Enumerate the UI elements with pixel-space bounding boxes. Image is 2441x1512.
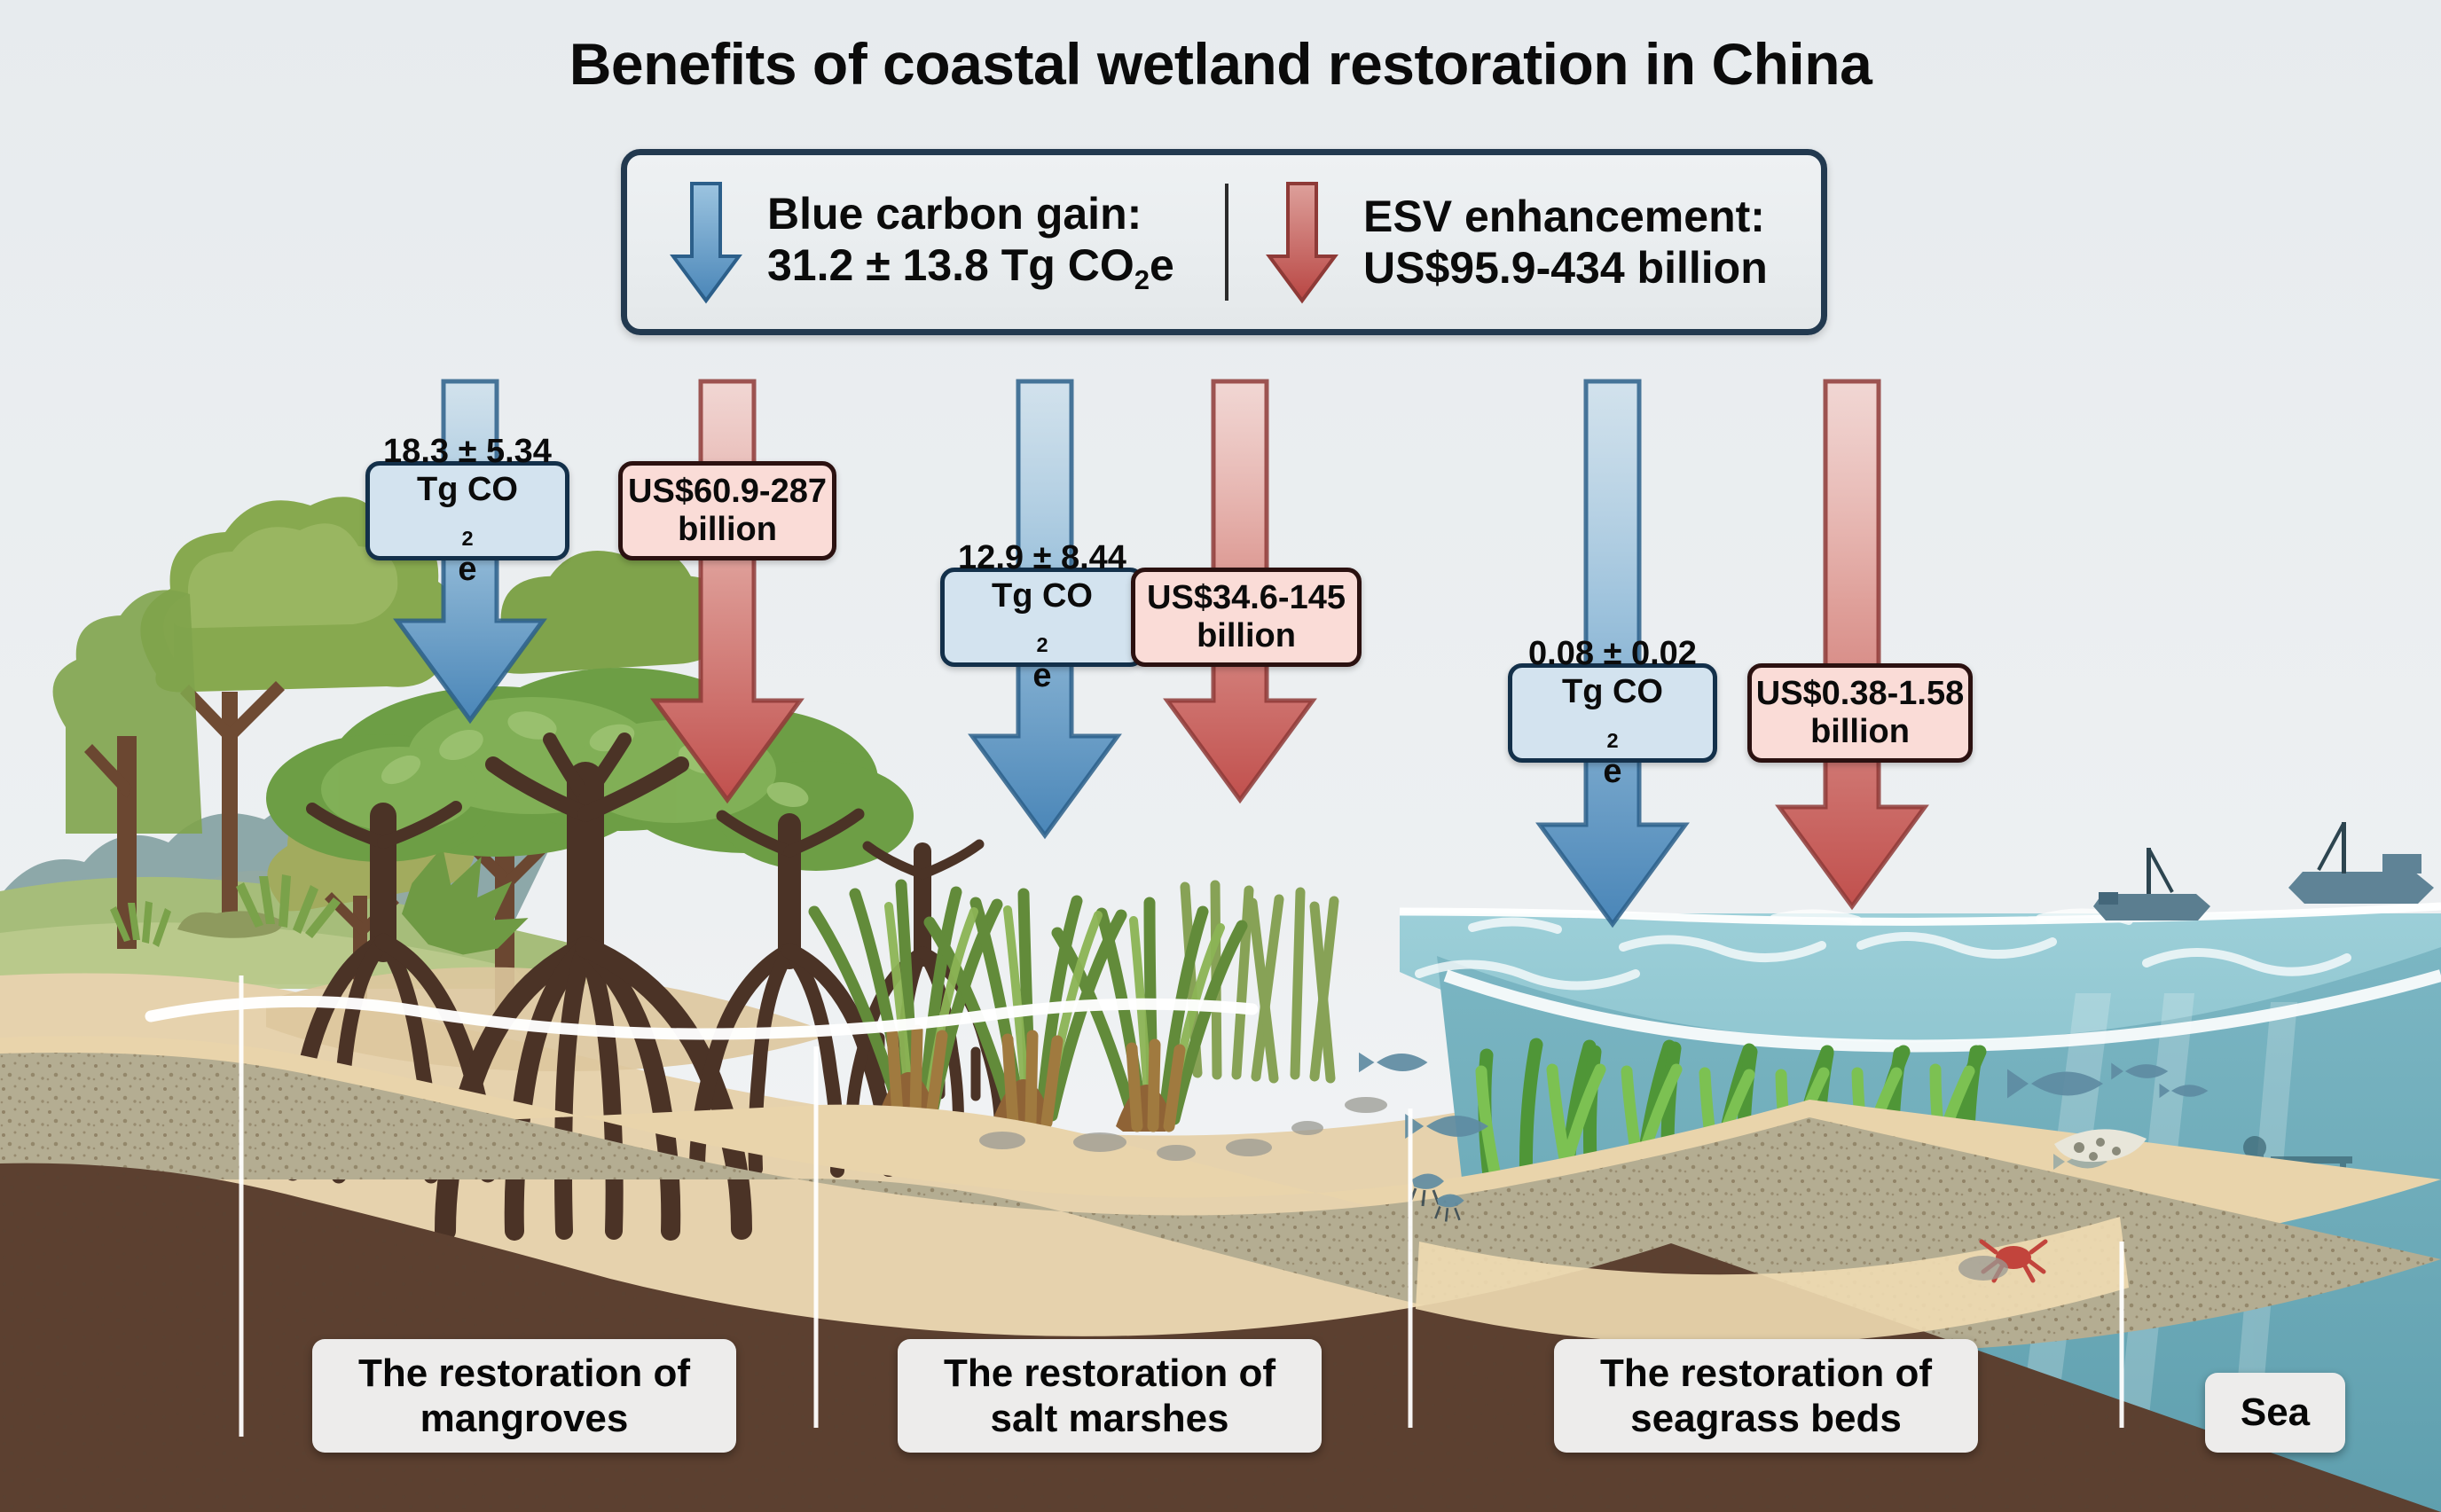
caption-salt-marshes: The restoration of salt marshes xyxy=(898,1339,1322,1453)
caption-seagrass-beds-line2: seagrass beds xyxy=(1630,1396,1902,1441)
legend-red-line1: ESV enhancement: xyxy=(1363,191,1768,242)
legend-panel: Blue carbon gain: 31.2 ± 13.8 Tg CO2e ES… xyxy=(621,149,1827,335)
caption-mangroves-line2: mangroves xyxy=(420,1396,629,1441)
caption-sea: Sea xyxy=(2205,1373,2345,1453)
infographic-canvas: Benefits of coastal wetland restoration … xyxy=(0,0,2441,1512)
carbon-badge-seagrass-beds: 0.08 ± 0.02 Tg CO2e xyxy=(1508,663,1717,763)
caption-salt-marshes-line2: salt marshes xyxy=(990,1396,1228,1441)
legend-esv: ESV enhancement: US$95.9-434 billion xyxy=(1228,180,1821,304)
esv-value-mangroves: US$60.9-287 xyxy=(628,473,827,511)
caption-seagrass-beds-line1: The restoration of xyxy=(1600,1351,1932,1396)
page-title: Benefits of coastal wetland restoration … xyxy=(0,30,2441,98)
caption-seagrass-beds: The restoration of seagrass beds xyxy=(1554,1339,1978,1453)
carbon-unit-salt-marshes: Tg CO2e xyxy=(992,577,1093,695)
esv-value-seagrass-beds: US$0.38-1.58 xyxy=(1756,675,1965,713)
esv-badge-seagrass-beds: US$0.38-1.58 billion xyxy=(1747,663,1973,763)
caption-sea-line1: Sea xyxy=(2241,1390,2310,1435)
esv-badge-salt-marshes: US$34.6-145 billion xyxy=(1131,568,1362,667)
esv-unit-mangroves: billion xyxy=(678,511,777,549)
legend-blue-line2: 31.2 ± 13.8 Tg CO2e xyxy=(767,239,1174,296)
esv-badge-mangroves: US$60.9-287 billion xyxy=(618,461,836,560)
carbon-unit-seagrass-beds: Tg CO2e xyxy=(1562,673,1663,791)
esv-value-salt-marshes: US$34.6-145 xyxy=(1147,579,1346,617)
legend-blue-text: Blue carbon gain: 31.2 ± 13.8 Tg CO2e xyxy=(767,188,1174,296)
caption-salt-marshes-line1: The restoration of xyxy=(944,1351,1275,1396)
caption-mangroves: The restoration of mangroves xyxy=(312,1339,736,1453)
legend-blue-carbon: Blue carbon gain: 31.2 ± 13.8 Tg CO2e xyxy=(627,180,1225,304)
carbon-unit-mangroves: Tg CO2e xyxy=(417,471,518,589)
carbon-value-seagrass-beds: 0.08 ± 0.02 xyxy=(1528,635,1697,673)
carbon-badge-mangroves: 18.3 ± 5.34 Tg CO2e xyxy=(365,461,569,560)
down-arrow-red-icon xyxy=(1264,180,1340,304)
carbon-value-mangroves: 18.3 ± 5.34 xyxy=(383,433,552,471)
esv-unit-seagrass-beds: billion xyxy=(1810,713,1910,751)
legend-red-line2: US$95.9-434 billion xyxy=(1363,242,1768,294)
down-arrow-blue-icon xyxy=(668,180,744,304)
caption-mangroves-line1: The restoration of xyxy=(358,1351,690,1396)
carbon-badge-salt-marshes: 12.9 ± 8.44 Tg CO2e xyxy=(940,568,1144,667)
esv-unit-salt-marshes: billion xyxy=(1197,617,1296,655)
legend-blue-line1: Blue carbon gain: xyxy=(767,188,1174,239)
legend-red-text: ESV enhancement: US$95.9-434 billion xyxy=(1363,191,1768,294)
carbon-value-salt-marshes: 12.9 ± 8.44 xyxy=(958,539,1126,577)
